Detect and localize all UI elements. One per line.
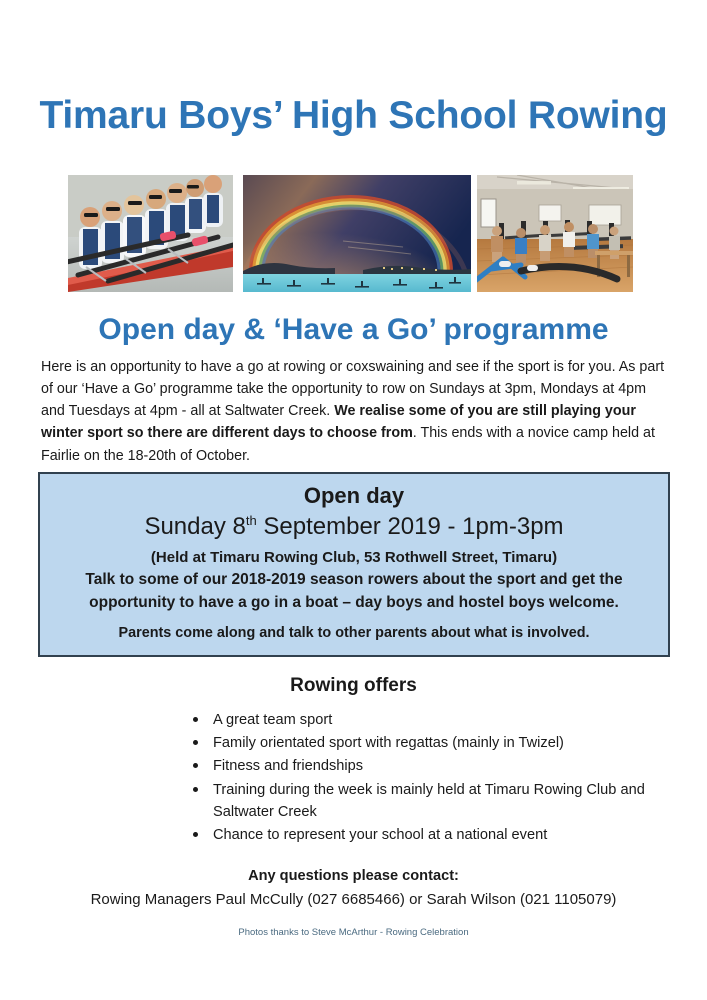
intro-paragraph: Here is an opportunity to have a go at r… [41,356,669,467]
open-day-parents: Parents come along and talk to other par… [40,624,668,643]
rainbow-lake-photo [243,175,471,292]
date-suffix: September 2019 - 1pm-3pm [257,513,564,540]
list-item: Fitness and friendships [192,755,672,777]
list-item: Family orientated sport with regattas (m… [192,732,672,754]
erg-gym-photo [477,175,633,292]
contact-line: Rowing Managers Paul McCully (027 668546… [0,891,707,908]
date-ordinal-suffix: th [246,513,257,528]
offers-list: A great team sportFamily orientated spor… [192,709,672,847]
date-prefix: Sunday 8 [144,513,245,540]
section-title: Open day & ‘Have a Go’ programme [0,313,707,346]
list-item: Chance to represent your school at a nat… [192,824,672,846]
contact-heading: Any questions please contact: [0,868,707,884]
open-day-date: Sunday 8th September 2019 - 1pm-3pm [40,513,668,542]
poster-page: Timaru Boys’ High School Rowing [0,0,707,1000]
open-day-heading: Open day [40,483,668,509]
offers-title: Rowing offers [0,675,707,697]
photo-credit: Photos thanks to Steve McArthur - Rowing… [0,927,707,938]
list-item: Training during the week is mainly held … [192,779,672,823]
open-day-talk: Talk to some of our 2018-2019 season row… [40,569,668,614]
page-title: Timaru Boys’ High School Rowing [0,96,707,137]
list-item: A great team sport [192,709,672,731]
open-day-info-box: Open day Sunday 8th September 2019 - 1pm… [38,472,670,657]
photo-strip [68,175,633,292]
open-day-venue: (Held at Timaru Rowing Club, 53 Rothwell… [40,548,668,568]
rowing-crew-photo [68,175,233,292]
